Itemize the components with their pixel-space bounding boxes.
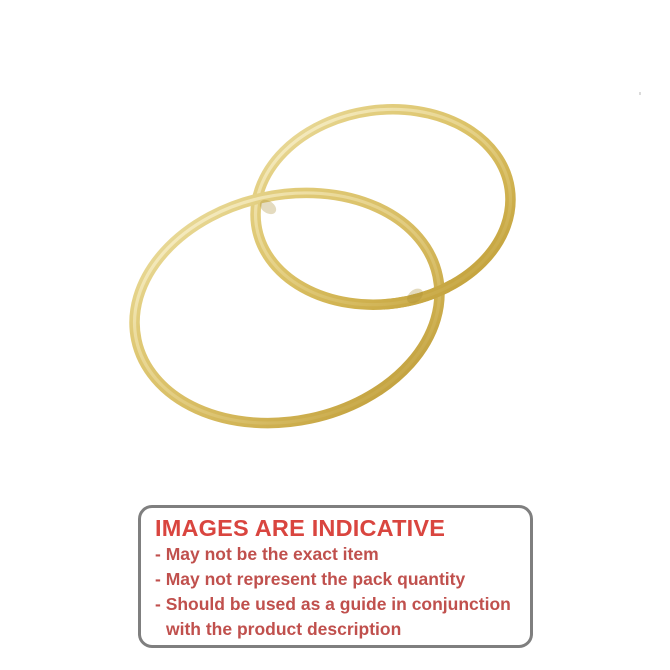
disclaimer-line-1: - May not be the exact item <box>155 542 530 567</box>
sensor-speck-artifact <box>639 92 641 95</box>
lower-left-o-ring <box>113 165 461 450</box>
product-photo <box>0 0 670 500</box>
o-rings-illustration <box>0 0 670 500</box>
images-are-indicative-notice: IMAGES ARE INDICATIVE - May not be the e… <box>138 505 533 648</box>
disclaimer-heading: IMAGES ARE INDICATIVE <box>155 514 530 542</box>
crossing-contact-shadows <box>257 197 426 306</box>
product-image-page: IMAGES ARE INDICATIVE - May not be the e… <box>0 0 670 670</box>
disclaimer-line-4: with the product description <box>155 617 530 642</box>
disclaimer-line-2: - May not represent the pack quantity <box>155 567 530 592</box>
disclaimer-line-3: - Should be used as a guide in conjuncti… <box>155 592 530 617</box>
